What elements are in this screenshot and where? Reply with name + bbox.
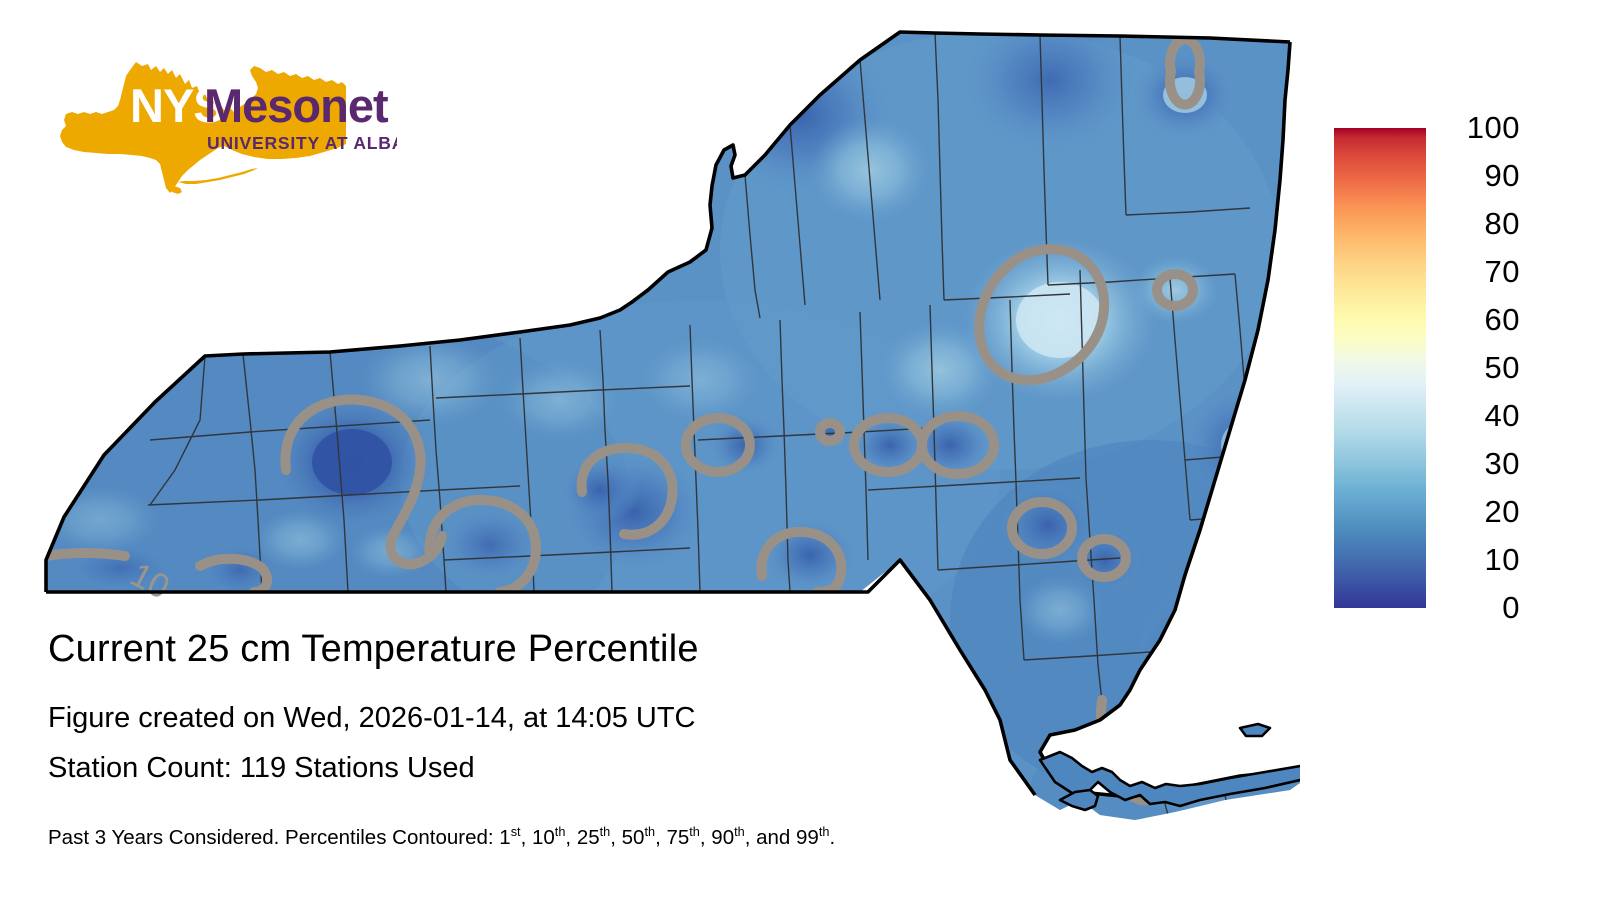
colorbar-tick-70: 70 (1434, 256, 1520, 287)
colorbar-tick-0: 0 (1434, 592, 1520, 623)
colorbar-tick-100: 100 (1434, 112, 1520, 143)
contour-footnote: Past 3 Years Considered. Percentiles Con… (48, 826, 835, 850)
colorbar-tick-10: 10 (1434, 544, 1520, 575)
figure-created-timestamp: Figure created on Wed, 2026-01-14, at 14… (48, 701, 696, 735)
station-count-label: Station Count: 119 Stations Used (48, 751, 475, 785)
colorbar-tick-90: 90 (1434, 160, 1520, 191)
page-title: Current 25 cm Temperature Percentile (48, 627, 699, 671)
colorbar-tick-80: 80 (1434, 208, 1520, 239)
colorbar-tick-40: 40 (1434, 400, 1520, 431)
colorbar-tick-30: 30 (1434, 448, 1520, 479)
colorbar-tick-50: 50 (1434, 352, 1520, 383)
colorbar-tick-labels: 100 90 80 70 60 50 40 30 20 10 0 (1434, 128, 1520, 608)
colorbar-gradient (1334, 128, 1426, 608)
logo-mesonet-text: Mesonet (204, 79, 389, 132)
colorbar-tick-20: 20 (1434, 496, 1520, 527)
colorbar-tick-60: 60 (1434, 304, 1520, 335)
logo-tagline: UNIVERSITY AT ALBANY (207, 133, 397, 153)
nys-mesonet-logo: NYS Mesonet UNIVERSITY AT ALBANY (52, 52, 397, 197)
colorbar: 100 90 80 70 60 50 40 30 20 10 0 (1334, 128, 1426, 608)
